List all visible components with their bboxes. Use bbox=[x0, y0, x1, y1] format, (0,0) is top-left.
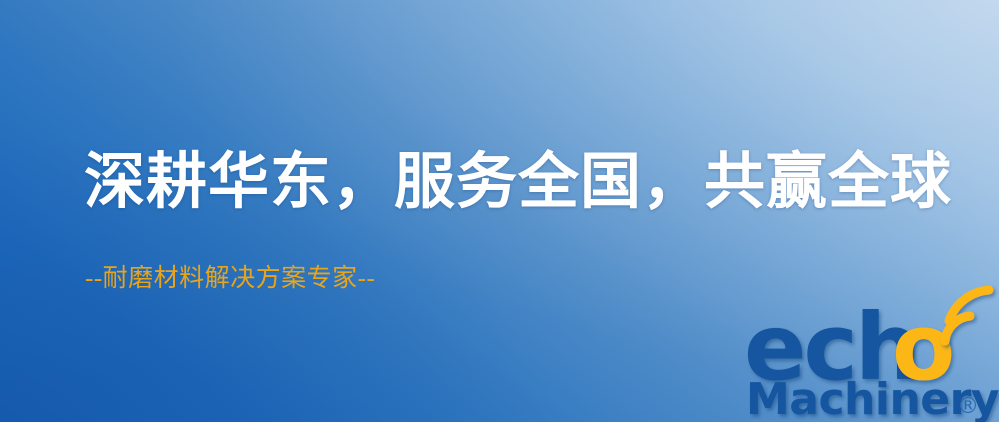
banner-subheadline: --耐磨材料解决方案专家-- bbox=[85, 266, 375, 291]
company-logo[interactable]: ech o Machinery ® bbox=[744, 292, 994, 420]
registered-trademark-mark: ® bbox=[957, 394, 979, 419]
promo-banner: 深耕华东，服务全国，共赢全球 --耐磨材料解决方案专家-- bbox=[0, 0, 999, 422]
banner-headline: 深耕华东，服务全国，共赢全球 bbox=[84, 152, 952, 213]
